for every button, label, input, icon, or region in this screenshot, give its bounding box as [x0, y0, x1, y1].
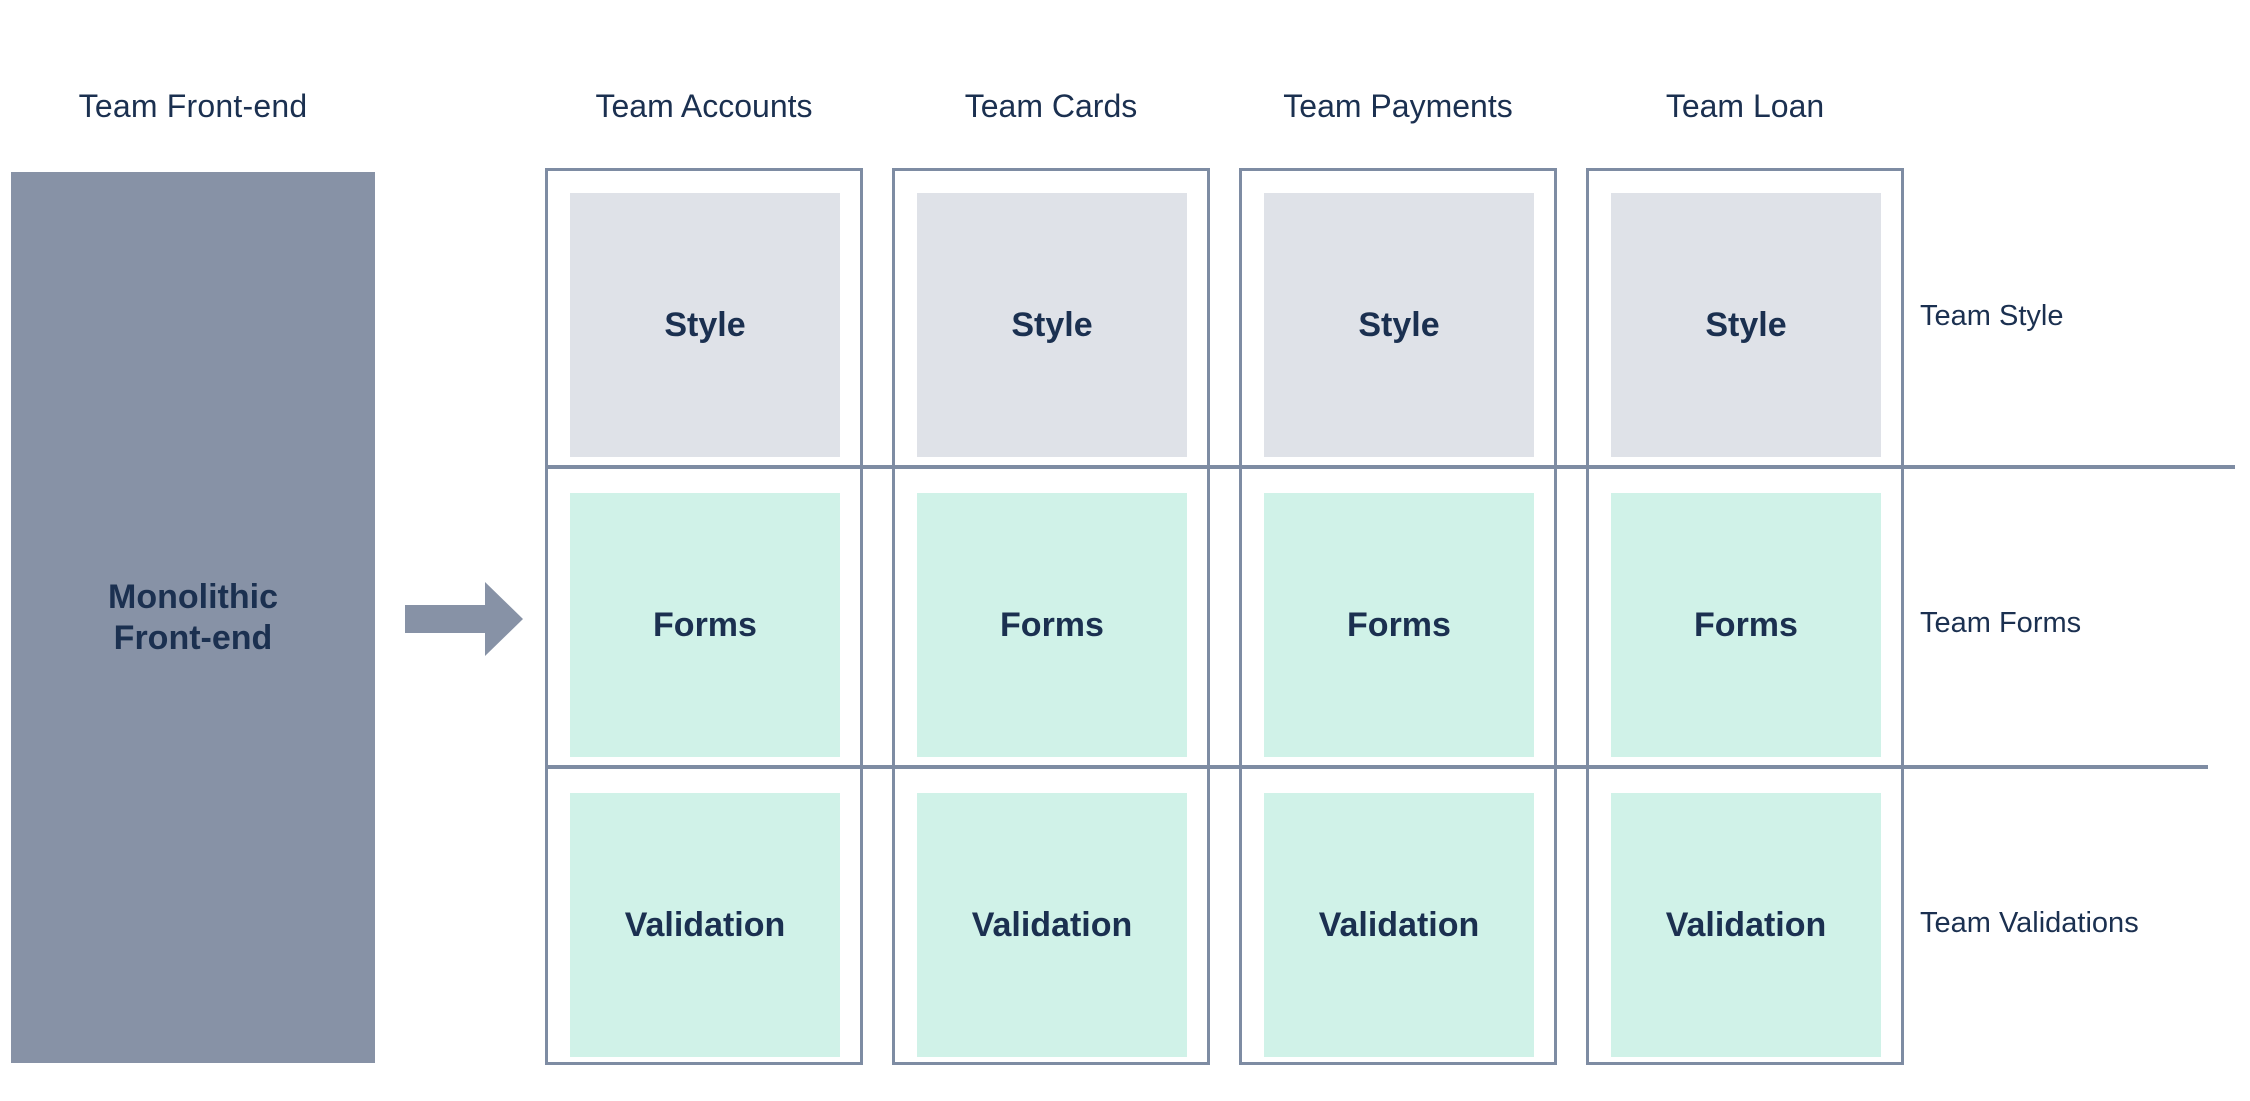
right-arrow-icon — [403, 578, 525, 660]
cell-loan-forms: Forms — [1611, 493, 1881, 757]
cell-cards-validation: Validation — [917, 793, 1187, 1057]
diagram-canvas: Team Front-end Monolithic Front-end Team… — [0, 0, 2250, 1101]
team-column-cards: Style Forms Validation — [892, 168, 1210, 1065]
column-header-team-accounts: Team Accounts — [545, 88, 863, 125]
monolith-column-header: Team Front-end — [11, 88, 375, 125]
column-header-team-cards: Team Cards — [892, 88, 1210, 125]
monolith-block: Monolithic Front-end — [11, 172, 375, 1063]
cell-payments-forms: Forms — [1264, 493, 1534, 757]
cell-accounts-style: Style — [570, 193, 840, 457]
cell-cards-style: Style — [917, 193, 1187, 457]
transformation-arrow — [403, 578, 525, 660]
column-header-team-loan: Team Loan — [1586, 88, 1904, 125]
cell-accounts-forms: Forms — [570, 493, 840, 757]
team-column-accounts: Style Forms Validation — [545, 168, 863, 1065]
row-label-team-style: Team Style — [1920, 300, 2063, 333]
cell-loan-style: Style — [1611, 193, 1881, 457]
cell-cards-forms: Forms — [917, 493, 1187, 757]
cell-accounts-validation: Validation — [570, 793, 840, 1057]
row-label-team-forms: Team Forms — [1920, 607, 2081, 640]
cell-payments-style: Style — [1264, 193, 1534, 457]
cell-payments-validation: Validation — [1264, 793, 1534, 1057]
cell-loan-validation: Validation — [1611, 793, 1881, 1057]
row-label-team-validations: Team Validations — [1920, 907, 2139, 940]
column-header-team-payments: Team Payments — [1239, 88, 1557, 125]
monolith-block-label: Monolithic Front-end — [108, 577, 278, 657]
team-column-payments: Style Forms Validation — [1239, 168, 1557, 1065]
team-column-loan: Style Forms Validation — [1586, 168, 1904, 1065]
